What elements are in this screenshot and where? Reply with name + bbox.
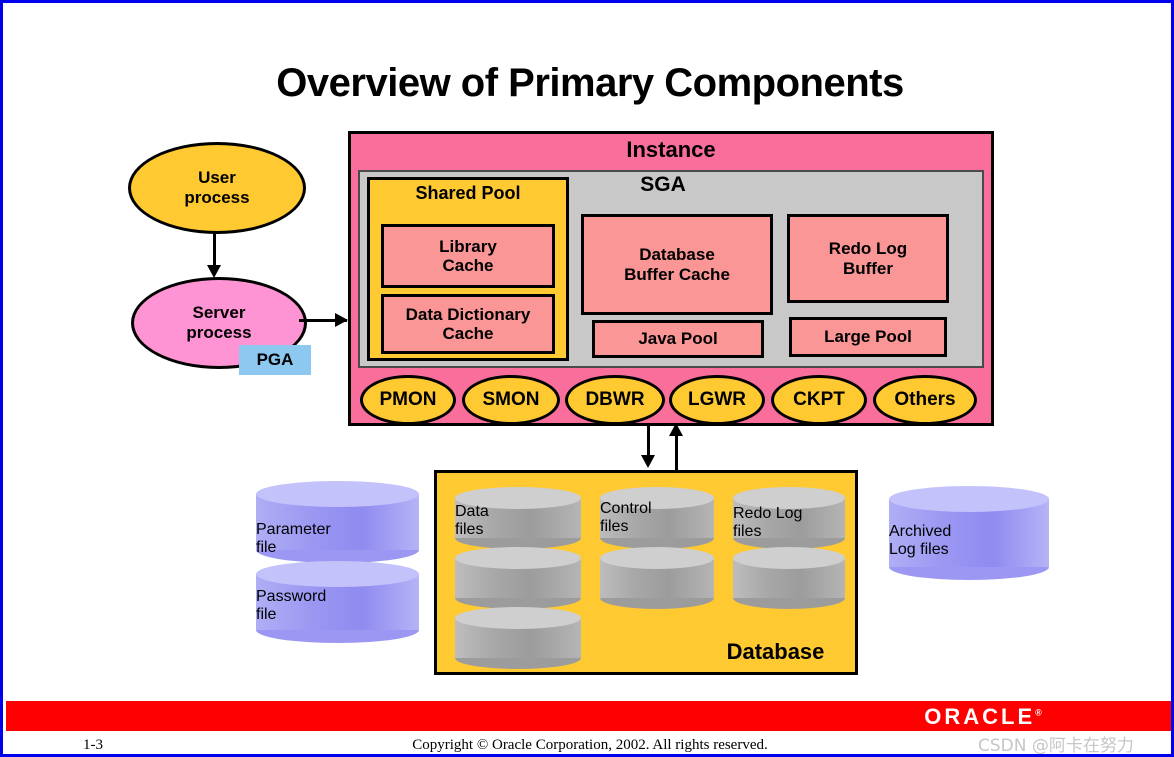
cylinder-redo-log-files-1	[733, 547, 845, 609]
database-buffer-cache-label-line1: Database	[639, 245, 715, 264]
user-process-label-line1: User	[198, 168, 236, 187]
java-pool-box[interactable]: Java Pool	[592, 320, 764, 358]
cylinder-label-redo-log-files: Redo Log files	[733, 505, 845, 541]
data-dictionary-cache-label-line1: Data Dictionary	[406, 305, 531, 324]
pga-box[interactable]: PGA	[239, 345, 311, 375]
control-files-label-line1: Control	[600, 500, 652, 517]
parameter-file-label-line1: Parameter	[256, 521, 331, 538]
redo-log-buffer-label-line2: Buffer	[843, 259, 893, 278]
archived-log-files-label-line2: Log files	[889, 541, 949, 558]
cylinder-label-archived-log-files: Archived Log files	[889, 523, 1049, 559]
cylinder-data-files-2	[455, 547, 581, 609]
large-pool-box[interactable]: Large Pool	[789, 317, 947, 357]
instance-label: Instance	[348, 137, 994, 163]
page-number: 1-3	[48, 737, 138, 754]
arrow-database-to-instance-head	[669, 423, 683, 436]
process-oval-others[interactable]: Others	[873, 375, 977, 425]
cylinder-label-control-files: Control files	[600, 500, 714, 536]
oracle-logo-registered-mark: ®	[1035, 708, 1042, 718]
csdn-watermark: CSDN @阿卡在努力	[978, 731, 1168, 756]
arrow-instance-to-database-head	[641, 455, 655, 468]
user-process-node[interactable]: User process	[128, 142, 306, 234]
data-files-label-line1: Data	[455, 503, 489, 520]
library-cache-label-line2: Cache	[442, 256, 493, 275]
sga-label: SGA	[563, 173, 763, 197]
database-buffer-cache-label-line2: Buffer Cache	[624, 265, 730, 284]
data-dictionary-cache-box[interactable]: Data Dictionary Cache	[381, 294, 555, 354]
server-process-label-line1: Server	[193, 303, 246, 322]
oracle-logo-text: ORACLE	[924, 704, 1035, 729]
redo-log-files-label-line1: Redo Log	[733, 505, 802, 522]
cylinder-label-password-file: Password file	[256, 588, 419, 624]
library-cache-label-line1: Library	[439, 237, 497, 256]
cylinder-label-data-files: Data files	[455, 503, 581, 539]
cylinder-control-files-1	[600, 547, 714, 609]
redo-log-buffer-box[interactable]: Redo Log Buffer	[787, 214, 949, 303]
server-process-label-line2: process	[186, 323, 251, 342]
oracle-logo: ORACLE®	[903, 704, 1063, 730]
password-file-label-line1: Password	[256, 588, 326, 605]
process-oval-lgwr[interactable]: LGWR	[669, 375, 765, 425]
cylinder-label-parameter-file: Parameter file	[256, 521, 419, 557]
redo-log-buffer-label-line1: Redo Log	[829, 239, 907, 258]
parameter-file-label-line2: file	[256, 539, 276, 556]
shared-pool-label: Shared Pool	[367, 183, 569, 204]
slide-canvas: Overview of Primary Components User proc…	[0, 0, 1174, 757]
process-oval-smon[interactable]: SMON	[462, 375, 560, 425]
data-files-label-line2: files	[455, 521, 483, 538]
user-process-label-line2: process	[184, 188, 249, 207]
arrow-server-to-instance-head	[335, 313, 348, 327]
library-cache-box[interactable]: Library Cache	[381, 224, 555, 288]
data-dictionary-cache-label-line2: Cache	[442, 324, 493, 343]
redo-log-files-label-line2: files	[733, 523, 761, 540]
password-file-label-line2: file	[256, 606, 276, 623]
cylinder-data-files-1	[455, 607, 581, 669]
control-files-label-line2: files	[600, 518, 628, 535]
database-buffer-cache-box[interactable]: Database Buffer Cache	[581, 214, 773, 315]
arrow-user-to-server-line	[213, 231, 216, 269]
page-title: Overview of Primary Components	[3, 61, 1174, 106]
archived-log-files-label-line1: Archived	[889, 523, 951, 540]
process-oval-dbwr[interactable]: DBWR	[565, 375, 665, 425]
process-oval-pmon[interactable]: PMON	[360, 375, 456, 425]
process-oval-ckpt[interactable]: CKPT	[771, 375, 867, 425]
database-label: Database	[703, 639, 848, 665]
